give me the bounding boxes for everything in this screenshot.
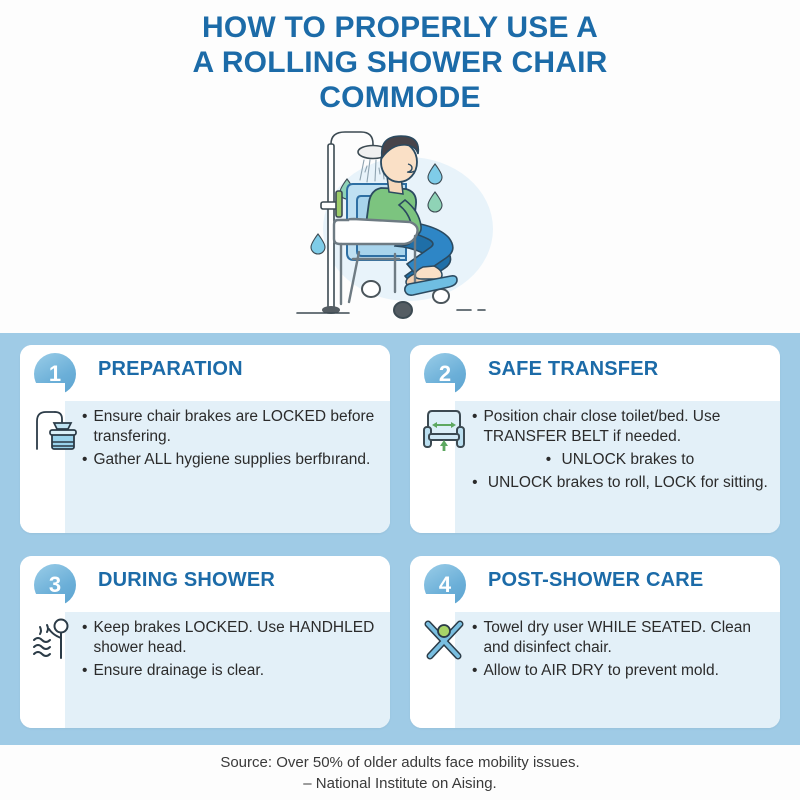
bullet-text: Position chair close toilet/bed. Use TRA…	[483, 407, 768, 447]
shower-supplies-icon	[28, 403, 80, 455]
bullet-item: • Gather ALL hygiene supplies berfbırand…	[82, 450, 378, 470]
crossed-cleaning-tools-icon	[418, 614, 470, 666]
bullet-dot: •	[472, 661, 477, 681]
bullet-item: • Position chair close toilet/bed. Use T…	[472, 407, 768, 447]
step-card-4: 4 POST-SHOWER CARE • Tow	[410, 556, 780, 728]
bullet-text: Ensure drainage is clear.	[93, 661, 378, 681]
bullet-dot: •	[472, 474, 477, 491]
source-footer: Source: Over 50% of older adults face mo…	[0, 752, 800, 794]
hero-illustration	[275, 124, 530, 324]
chair-transfer-arrows-icon	[418, 403, 470, 455]
step-card-1-body: • Ensure chair brakes are LOCKED before …	[20, 401, 390, 533]
step-card-2-body: • Position chair close toilet/bed. Use T…	[410, 401, 780, 533]
bullet-item: • Allow to AIR DRY to prevent mold.	[472, 661, 768, 681]
bullet-item: • UNLOCK brakes to roll, LOCK for sittin…	[472, 473, 768, 493]
bullet-item: • UNLOCK brakes to	[472, 450, 768, 470]
bullet-text: UNLOCK brakes to	[562, 451, 695, 468]
step-4-bullets: • Towel dry user WHILE SEATED. Clean and…	[472, 618, 768, 684]
source-line-1: Source: Over 50% of older adults face mo…	[0, 752, 800, 773]
step-card-3: 3 DURING SHOWER	[20, 556, 390, 728]
step-card-4-body: • Towel dry user WHILE SEATED. Clean and…	[410, 612, 780, 728]
step-3-bullets: • Keep brakes LOCKED. Use HANDHLED showe…	[82, 618, 378, 684]
step-card-3-header: 3 DURING SHOWER	[20, 556, 390, 612]
bullet-item: • Ensure chair brakes are LOCKED before …	[82, 407, 378, 447]
step-2-bullets: • Position chair close toilet/bed. Use T…	[472, 407, 768, 496]
bullet-text: Gather ALL hygiene supplies berfbırand.	[93, 450, 378, 470]
bullet-dot: •	[546, 451, 551, 468]
step-title-3: DURING SHOWER	[98, 569, 275, 592]
bullet-dot: •	[82, 407, 87, 447]
bullet-dot: •	[82, 450, 87, 470]
bullet-text: UNLOCK brakes to roll, LOCK for sitting.	[488, 474, 768, 491]
bullet-item: • Ensure drainage is clear.	[82, 661, 378, 681]
bullet-dot: •	[82, 618, 87, 658]
bullet-text: Ensure chair brakes are LOCKED before tr…	[93, 407, 378, 447]
title-line-1: HOW TO PROPERLY USE A	[0, 10, 800, 45]
step-title-2: SAFE TRANSFER	[488, 358, 658, 381]
bullet-text: Towel dry user WHILE SEATED. Clean and d…	[483, 618, 768, 658]
step-1-bullets: • Ensure chair brakes are LOCKED before …	[82, 407, 378, 473]
source-line-2: – National Institute on Aising.	[0, 773, 800, 794]
step-card-3-body: • Keep brakes LOCKED. Use HANDHLED showe…	[20, 612, 390, 728]
title-line-2: A ROLLING SHOWER CHAIR	[0, 45, 800, 80]
step-card-2: 2 SAFE TRANSFER •	[410, 345, 780, 533]
step-card-4-header: 4 POST-SHOWER CARE	[410, 556, 780, 612]
step-card-1-header: 1 PREPARATION	[20, 345, 390, 401]
bullet-text: Keep brakes LOCKED. Use HANDHLED shower …	[93, 618, 378, 658]
bullet-item: • Towel dry user WHILE SEATED. Clean and…	[472, 618, 768, 658]
infographic-page: HOW TO PROPERLY USE A A ROLLING SHOWER C…	[0, 0, 800, 800]
bullet-dot: •	[82, 661, 87, 681]
step-card-1: 1 PREPARATION	[20, 345, 390, 533]
title-line-3: COMMODE	[0, 80, 800, 115]
bullet-item: • Keep brakes LOCKED. Use HANDHLED showe…	[82, 618, 378, 658]
bullet-dot: •	[472, 618, 477, 658]
bullet-dot: •	[472, 407, 477, 447]
step-card-2-header: 2 SAFE TRANSFER	[410, 345, 780, 401]
step-title-1: PREPARATION	[98, 358, 243, 381]
page-title: HOW TO PROPERLY USE A A ROLLING SHOWER C…	[0, 10, 800, 115]
step-title-4: POST-SHOWER CARE	[488, 569, 703, 592]
bullet-text: Allow to AIR DRY to prevent mold.	[483, 661, 768, 681]
person-in-water-icon	[28, 614, 80, 666]
